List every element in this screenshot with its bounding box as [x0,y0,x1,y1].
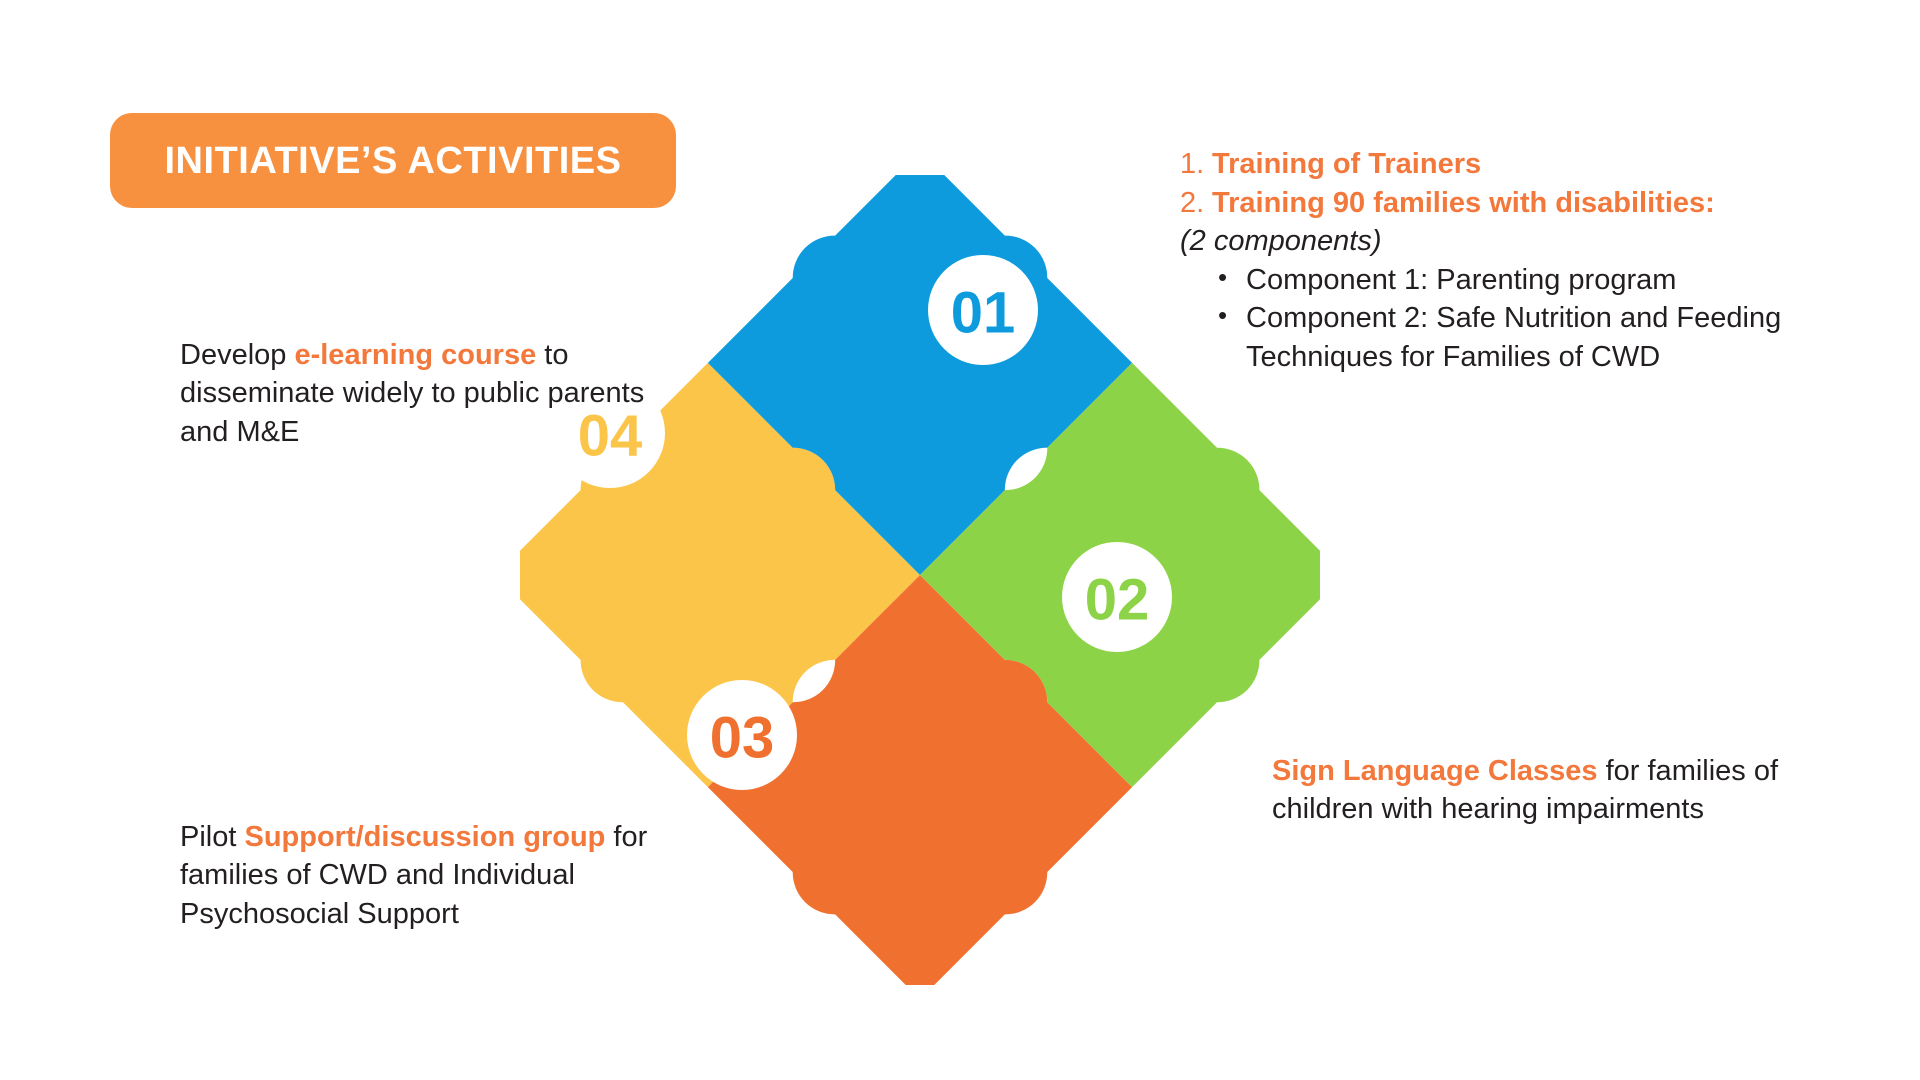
puzzle-badge-01: 01 [928,255,1038,365]
activity-03-text: Pilot Support/discussion group for famil… [180,818,720,933]
puzzle-badge-02-label: 02 [1085,568,1150,633]
activity-03-lead: Pilot [180,821,244,853]
activity-01-bullet-list: • Component 1: Parenting program • Compo… [1180,261,1840,377]
activity-01-list-item: 2. Training 90 families with disabilitie… [1180,184,1840,223]
activity-02-highlight: Sign Language Classes [1272,755,1598,787]
activity-01-bullet-item: • Component 2: Safe Nutrition and Feedin… [1214,299,1840,376]
activity-01-list-item: 1. Training of Trainers [1180,145,1840,184]
bullet-dot-icon: • [1218,298,1227,333]
activity-03-highlight: Support/discussion group [244,821,605,853]
activity-01-components-note: (2 components) [1180,222,1840,261]
puzzle-badge-01-label: 01 [951,281,1016,346]
activity-02-text: Sign Language Classes for families of ch… [1272,752,1812,829]
list-item-label: Training of Trainers [1212,148,1481,180]
activity-01-bullet-item: • Component 1: Parenting program [1214,261,1840,300]
activity-04-lead: Develop [180,339,294,371]
activity-01-text: 1. Training of Trainers 2. Training 90 f… [1180,145,1840,376]
bullet-label: Component 2: Safe Nutrition and Feeding … [1246,302,1781,373]
activity-01-numbered-list: 1. Training of Trainers 2. Training 90 f… [1180,145,1840,222]
activity-04-text: Develop e-learning course to disseminate… [180,336,650,451]
list-item-label: Training 90 families with disabilities: [1212,187,1715,219]
puzzle-badge-03-label: 03 [710,706,775,771]
bullet-label: Component 1: Parenting program [1246,264,1676,296]
list-marker: 1. [1180,145,1204,184]
puzzle-badge-02: 02 [1062,542,1172,652]
puzzle-badge-03: 03 [687,680,797,790]
bullet-dot-icon: • [1218,260,1227,295]
list-marker: 2. [1180,184,1204,223]
activity-04-highlight: e-learning course [294,339,536,371]
page-title: INITIATIVE’S ACTIVITIES [165,142,622,180]
